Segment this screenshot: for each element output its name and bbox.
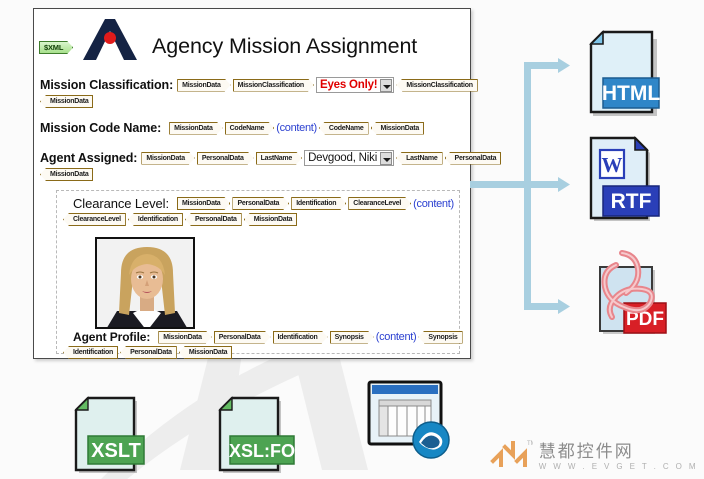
field-row-clearance-level: Clearance Level: MissionData PersonalDat… bbox=[73, 196, 454, 226]
schema-tag: MissionData bbox=[371, 122, 424, 135]
schema-tag: MissionData bbox=[169, 122, 222, 135]
schema-tag: PersonalData bbox=[120, 346, 177, 359]
evget-watermark: TM 慧都控件网 W W W . E V G E T . C O M bbox=[489, 437, 698, 471]
evget-chinese-label: 慧都控件网 bbox=[539, 437, 634, 462]
svg-text:W: W bbox=[602, 153, 623, 177]
html-file-icon[interactable]: HTML bbox=[586, 30, 660, 121]
field-row-mission-code-name: Mission Code Name: MissionData CodeName … bbox=[34, 121, 470, 135]
schema-tag: ClearanceLevel bbox=[63, 213, 126, 226]
field-label: Mission Code Name: bbox=[40, 121, 161, 135]
schema-tag: MissionData bbox=[40, 168, 93, 181]
rtf-label: RTF bbox=[611, 190, 652, 213]
schema-tag: Synopsis bbox=[418, 331, 462, 344]
xslfo-file-icon[interactable]: XSL:FO bbox=[216, 396, 296, 479]
schema-tag: MissionData bbox=[177, 197, 230, 210]
field-row-mission-classification: Mission Classification: MissionData Miss… bbox=[34, 77, 470, 108]
schema-tag: Identification bbox=[128, 213, 183, 226]
schema-tag: CodeName bbox=[319, 122, 369, 135]
rtf-file-icon[interactable]: W RTF bbox=[586, 136, 660, 227]
schema-tag: CodeName bbox=[225, 122, 275, 135]
stylevision-app-icon[interactable] bbox=[365, 378, 457, 467]
schema-tag: MissionClassification bbox=[233, 79, 314, 92]
schema-tag: MissionData bbox=[244, 213, 297, 226]
chevron-down-icon[interactable] bbox=[380, 79, 392, 92]
field-label: Agent Profile: bbox=[73, 330, 150, 344]
schema-tag: MissionData bbox=[158, 331, 211, 344]
html-label: HTML bbox=[602, 82, 660, 105]
evget-url-label: W W W . E V G E T . C O M bbox=[539, 462, 698, 471]
content-placeholder[interactable]: (content) bbox=[276, 122, 317, 134]
schema-tag: PersonalData bbox=[214, 331, 271, 344]
schema-tag: LastName bbox=[256, 152, 302, 165]
agency-a-logo bbox=[79, 17, 141, 66]
schema-tag: PersonalData bbox=[185, 213, 242, 226]
schema-tag: MissionData bbox=[179, 346, 232, 359]
schema-tag: Synopsis bbox=[330, 331, 374, 344]
schema-tag: PersonalData bbox=[197, 152, 254, 165]
dropdown-value: Eyes Only! bbox=[320, 79, 380, 91]
document-header: $XML Agency Mission Assignment bbox=[34, 9, 470, 67]
output-flow-arrows bbox=[470, 50, 585, 325]
xslt-label: XSLT bbox=[91, 440, 141, 462]
schema-tag: Identification bbox=[273, 331, 328, 344]
evget-logo-icon: TM bbox=[489, 437, 533, 471]
xslfo-label: XSL:FO bbox=[229, 441, 295, 461]
field-label: Clearance Level: bbox=[73, 196, 169, 211]
content-placeholder[interactable]: (content) bbox=[413, 198, 454, 210]
chevron-down-icon[interactable] bbox=[380, 152, 392, 165]
field-row-agent-assigned: Agent Assigned: MissionData PersonalData… bbox=[34, 150, 470, 181]
dropdown-value: Devgood, Niki bbox=[308, 152, 380, 164]
schema-tag: MissionClassification bbox=[396, 79, 477, 92]
clearance-region: Clearance Level: MissionData PersonalDat… bbox=[56, 190, 460, 354]
page-title: Agency Mission Assignment bbox=[152, 34, 417, 59]
schema-tag: ClearanceLevel bbox=[348, 197, 411, 210]
schema-tag: LastName bbox=[396, 152, 442, 165]
pdf-file-icon[interactable]: PDF bbox=[586, 245, 668, 342]
xslt-file-icon[interactable]: XSLT bbox=[72, 396, 146, 479]
schema-tag: MissionData bbox=[141, 152, 194, 165]
schema-tag: Identification bbox=[63, 346, 118, 359]
trademark-label: TM bbox=[527, 441, 533, 447]
agent-assigned-dropdown[interactable]: Devgood, Niki bbox=[304, 150, 394, 166]
field-row-agent-profile: Agent Profile: MissionData PersonalData … bbox=[73, 330, 463, 359]
schema-tag: PersonalData bbox=[232, 197, 289, 210]
schema-tag: Identification bbox=[291, 197, 346, 210]
schema-tag: MissionData bbox=[177, 79, 230, 92]
field-label: Agent Assigned: bbox=[40, 151, 137, 165]
agent-portrait-photo bbox=[95, 237, 195, 329]
schema-tag: MissionData bbox=[40, 95, 93, 108]
mission-classification-dropdown[interactable]: Eyes Only! bbox=[316, 77, 394, 93]
document-preview-panel: $XML Agency Mission Assignment Mission C… bbox=[33, 8, 471, 359]
field-label: Mission Classification: bbox=[40, 78, 173, 92]
content-placeholder[interactable]: (content) bbox=[376, 331, 417, 343]
xml-source-tag: $XML bbox=[39, 41, 73, 54]
